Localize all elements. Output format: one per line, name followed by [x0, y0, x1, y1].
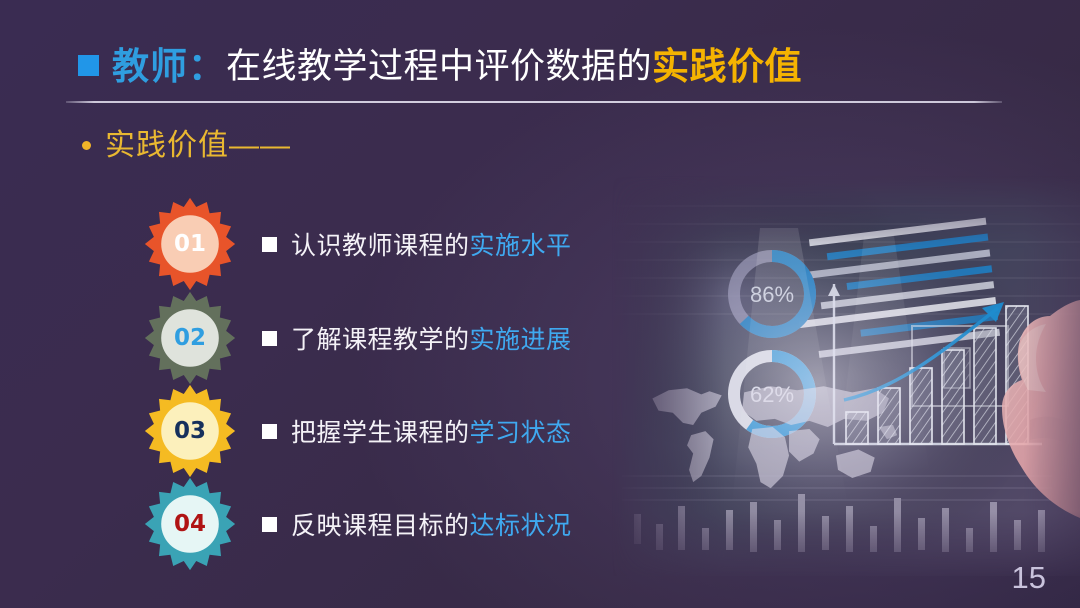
list-item: 03 把握学生课程的 学习状态 — [0, 385, 620, 477]
title-middle: 在线教学过程中评价数据的 — [226, 38, 652, 89]
slide-canvas: 教师： 在线教学过程中评价数据的 实践价值 实践价值—— 01 认识教师课程的 … — [0, 0, 1080, 608]
title-prefix: 教师： — [112, 36, 226, 90]
gear-number-04: 04 — [142, 476, 238, 572]
bullet-text-accent: 实施水平 — [470, 226, 572, 262]
page-number: 15 — [1012, 560, 1046, 596]
bullet-text-accent: 达标状况 — [470, 506, 572, 542]
blue-square-bullet-icon — [78, 55, 99, 76]
bullet-text-accent: 学习状态 — [470, 413, 572, 449]
title-divider — [66, 101, 1002, 103]
bullet-line-01: 认识教师课程的 实施水平 — [262, 226, 572, 262]
list-item: 04 反映课程目标的 达标状况 — [0, 478, 620, 570]
subtitle: 实践价值—— — [82, 120, 291, 164]
page-title: 教师： 在线教学过程中评价数据的 实践价值 — [78, 36, 802, 90]
bullet-line-04: 反映课程目标的 达标状况 — [262, 506, 572, 542]
gear-badge-04: 04 — [142, 476, 238, 572]
bullet-text-plain: 认识教师课程的 — [291, 226, 470, 262]
bullet-line-03: 把握学生课程的 学习状态 — [262, 413, 572, 449]
bullet-text-plain: 了解课程教学的 — [291, 320, 470, 356]
gear-number-03: 03 — [142, 383, 238, 479]
bullet-text-plain: 反映课程目标的 — [291, 506, 470, 542]
bullet-text-plain: 把握学生课程的 — [291, 413, 470, 449]
gear-number-02: 02 — [142, 290, 238, 386]
gear-badge-03: 03 — [142, 383, 238, 479]
title-highlight: 实践价值 — [652, 36, 802, 90]
subtitle-label: 实践价值—— — [105, 120, 291, 164]
gear-number-01: 01 — [142, 196, 238, 292]
bullet-text-accent: 实施进展 — [470, 320, 572, 356]
white-square-bullet-icon — [262, 237, 277, 252]
data-dashboard-photo: 86% 62% — [612, 176, 1080, 576]
list-item: 01 认识教师课程的 实施水平 — [0, 198, 620, 290]
white-square-bullet-icon — [262, 424, 277, 439]
gear-badge-02: 02 — [142, 290, 238, 386]
gold-dot-bullet-icon — [82, 141, 91, 150]
list-item: 02 了解课程教学的 实施进展 — [0, 292, 620, 384]
gear-badge-01: 01 — [142, 196, 238, 292]
bullet-line-02: 了解课程教学的 实施进展 — [262, 320, 572, 356]
white-square-bullet-icon — [262, 331, 277, 346]
white-square-bullet-icon — [262, 517, 277, 532]
